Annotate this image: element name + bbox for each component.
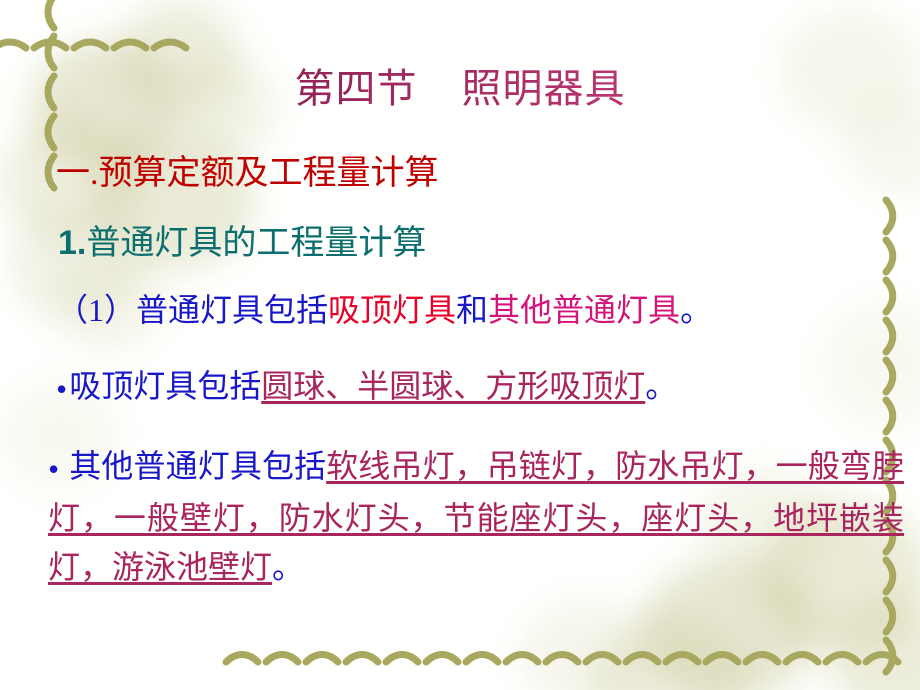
item-one-conjunction: 和 — [456, 292, 488, 328]
sub-heading-number: 1. — [58, 224, 86, 262]
item-one-term-other-lamp: 其他普通灯具 — [488, 292, 680, 328]
item-one-lead: （1）普通灯具包括 — [56, 292, 328, 328]
bullet-item-other: • 其他普通灯具包括软线吊灯，吊链灯，防水吊灯，一般弯脖灯，一般壁灯，防水灯头，… — [48, 442, 904, 592]
bullet-one-period: 。 — [645, 368, 677, 404]
bullet-marker-icon: • — [48, 445, 59, 494]
bullet-two-lead: 其他普通灯具包括 — [61, 448, 326, 484]
sub-heading-text: 普通灯具的工程量计算 — [86, 225, 426, 262]
bullet-one-list: 圆球、半圆球、方形吸顶灯 — [261, 368, 645, 404]
bullet-one-lead: 吸顶灯具包括 — [69, 368, 261, 404]
bullet-marker-icon: • — [56, 372, 67, 407]
presentation-slide: 第四节 照明器具 一.预算定额及工程量计算 1.普通灯具的工程量计算 （1）普通… — [0, 0, 920, 690]
slide-title: 第四节 照明器具 — [0, 66, 920, 112]
sub-heading: 1.普通灯具的工程量计算 — [58, 225, 426, 262]
section-heading: 一.预算定额及工程量计算 — [56, 155, 439, 192]
item-one: （1）普通灯具包括吸顶灯具和其他普通灯具。 — [56, 293, 712, 328]
item-one-period: 。 — [680, 292, 712, 328]
slide-content: 第四节 照明器具 一.预算定额及工程量计算 1.普通灯具的工程量计算 （1）普通… — [0, 0, 920, 690]
item-one-term-ceiling-lamp: 吸顶灯具 — [328, 292, 456, 328]
bullet-item-ceiling: •吸顶灯具包括圆球、半圆球、方形吸顶灯。 — [56, 369, 677, 407]
bullet-two-period: 。 — [272, 549, 304, 585]
